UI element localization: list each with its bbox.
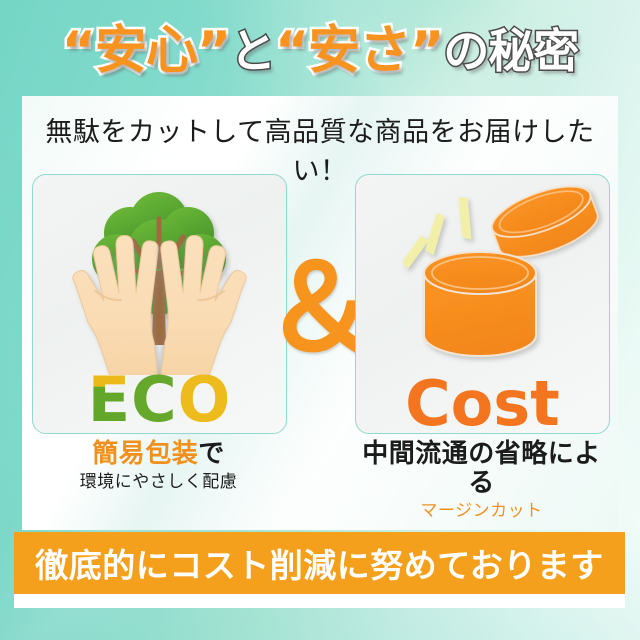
eco-letter-e: E [88, 363, 131, 434]
caption-eco: 簡易包装で 環境にやさしく配慮 [32, 440, 285, 493]
ampersand-connector: ＆ [287, 248, 355, 368]
hands-holding-tree-icon [33, 175, 286, 375]
headline-segment-no-himitsu: の秘密 [443, 28, 578, 74]
caption-cost-sub: マージンカット [355, 501, 608, 521]
eco-wordmark: ECO [33, 369, 286, 431]
caption-cost-main: 中間流通の省略による [355, 440, 608, 498]
eco-letter-o: O [178, 363, 232, 434]
headline-segment-yasusa: “安さ” [275, 25, 443, 77]
eco-letter-c: C [131, 363, 178, 434]
cards-row: ECO ＆ [32, 174, 608, 434]
caption-cost: 中間流通の省略による マージンカット [355, 440, 608, 522]
bottom-banner-text: 徹底的にコスト削減に努めております [35, 539, 604, 587]
caption-eco-main: 簡易包装で [32, 440, 285, 469]
card-cost[interactable]: Cost [355, 174, 610, 434]
bottom-banner-underline [14, 594, 625, 608]
orange-coin-can-icon [356, 175, 609, 375]
headline-segment-to: と [230, 28, 275, 74]
cost-wordmark: Cost [356, 373, 609, 434]
headline-segment-anshin: “安心” [62, 25, 230, 77]
headline: “安心” と “安さ” の秘密 [0, 12, 640, 90]
caption-eco-main-orange: 簡易包装 [92, 439, 198, 469]
captions-row: 簡易包装で 環境にやさしく配慮 中間流通の省略による マージンカット [32, 440, 608, 526]
can-body-shape [424, 252, 536, 356]
card-eco[interactable]: ECO [32, 174, 287, 434]
poster-canvas: “安心” と “安さ” の秘密 無駄をカットして高品質な商品をお届けしたい！ [0, 0, 640, 640]
bottom-banner: 徹底的にコスト削減に努めております [14, 532, 625, 594]
content-panel: 無駄をカットして高品質な商品をお届けしたい！ [22, 96, 618, 530]
caption-eco-main-black: で [198, 439, 225, 469]
caption-eco-sub: 環境にやさしく配慮 [32, 472, 285, 492]
